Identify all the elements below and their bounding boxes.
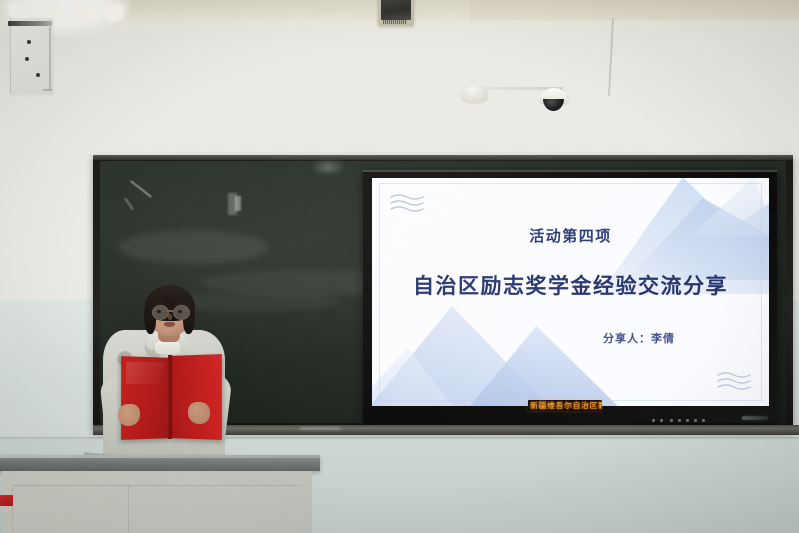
student-left-hand xyxy=(118,404,140,426)
chalkboard-tray-glare xyxy=(300,427,340,430)
student-inner-shirt xyxy=(155,340,180,354)
red-folder-sheen xyxy=(126,362,165,384)
display-bezel-highlight xyxy=(363,170,777,172)
student-nose xyxy=(168,314,172,320)
student-eye-right xyxy=(178,310,182,313)
ceiling-speaker-grille-icon xyxy=(383,20,407,24)
presentation-slide-screen[interactable]: 活动第四项 自治区励志奖学金经验交流分享 分享人：李倩 xyxy=(372,178,769,406)
wall-panel-top-bar xyxy=(8,21,52,26)
display-brand-logo xyxy=(742,416,768,420)
lectern-panel-seam xyxy=(128,485,129,533)
red-folder-spine xyxy=(168,355,172,439)
chalk-smudge xyxy=(118,230,268,264)
student-eye-left xyxy=(157,310,161,313)
student-right-hand xyxy=(188,402,210,424)
chalkboard-glare xyxy=(310,158,346,176)
chalk-mark xyxy=(235,196,241,211)
red-folder-right-page xyxy=(171,354,222,440)
wall-panel-screw-icon xyxy=(25,57,29,61)
led-ticker-text: 新疆维吾尔自治区教育厅 xyxy=(530,401,602,410)
lectern-red-label xyxy=(0,495,13,506)
slide-heading: 活动第四项 xyxy=(372,225,769,246)
display-indicator-dot xyxy=(660,419,663,422)
ceiling-speaker-face xyxy=(381,0,411,20)
student-mouth xyxy=(164,322,175,327)
wall-control-panel[interactable] xyxy=(10,18,53,94)
display-indicator-dot xyxy=(686,419,689,422)
display-indicator-dot xyxy=(670,419,673,422)
chalkboard-top-edge xyxy=(93,155,793,160)
eyeglasses-bridge-icon xyxy=(167,310,173,312)
display-indicator-dot xyxy=(702,419,705,422)
wall-panel-screw-icon xyxy=(27,40,31,44)
slide-presenter-name: 分享人：李倩 xyxy=(603,330,675,346)
wall-conduit-vertical xyxy=(49,27,51,90)
ceiling-band-right xyxy=(470,0,799,20)
led-ticker-display: 新疆维吾尔自治区教育厅 xyxy=(528,400,602,411)
lectern-top-highlight xyxy=(0,455,320,458)
display-indicator-dot xyxy=(652,419,655,422)
display-indicator-dot xyxy=(694,419,697,422)
slide-title: 自治区励志奖学金经验交流分享 xyxy=(372,270,769,300)
wall-panel-screw-icon xyxy=(36,73,40,77)
slide-text-block: 活动第四项 自治区励志奖学金经验交流分享 分享人：李倩 xyxy=(372,178,769,406)
lectern-front-panel xyxy=(12,485,301,533)
classroom-presentation-photo: 活动第四项 自治区励志奖学金经验交流分享 分享人：李倩 新疆维吾尔自治区教育厅 xyxy=(0,0,799,533)
wall-conduit-horizontal xyxy=(43,89,52,91)
display-indicator-dot xyxy=(678,419,681,422)
